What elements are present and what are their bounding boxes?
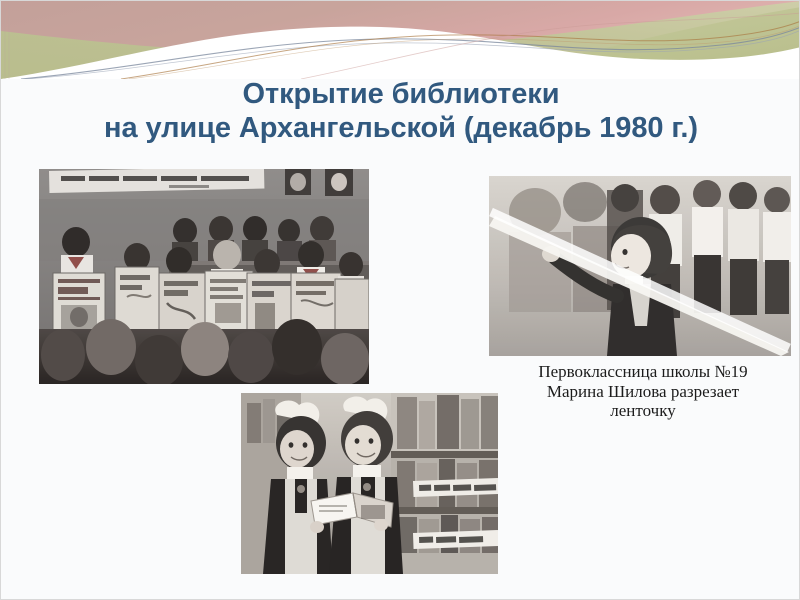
title-line-1: Открытие библиотеки bbox=[1, 77, 800, 111]
presentation-slide: Открытие библиотеки на улице Архангельск… bbox=[0, 0, 800, 600]
wave-ribbon-banner bbox=[1, 1, 800, 79]
title-line-2: на улице Архангельской (декабрь 1980 г.) bbox=[1, 111, 800, 145]
caption-line-1: Первоклассница школы №19 bbox=[493, 362, 793, 382]
photo-ribbon bbox=[489, 176, 791, 356]
photo-assembly bbox=[39, 169, 369, 384]
photo-reading bbox=[241, 393, 498, 574]
caption-line-2: Марина Шилова разрезает bbox=[493, 382, 793, 402]
photo-caption: Первоклассница школы №19 Марина Шилова р… bbox=[493, 362, 793, 421]
caption-line-3: ленточку bbox=[493, 401, 793, 421]
page-title: Открытие библиотеки на улице Архангельск… bbox=[1, 77, 800, 145]
